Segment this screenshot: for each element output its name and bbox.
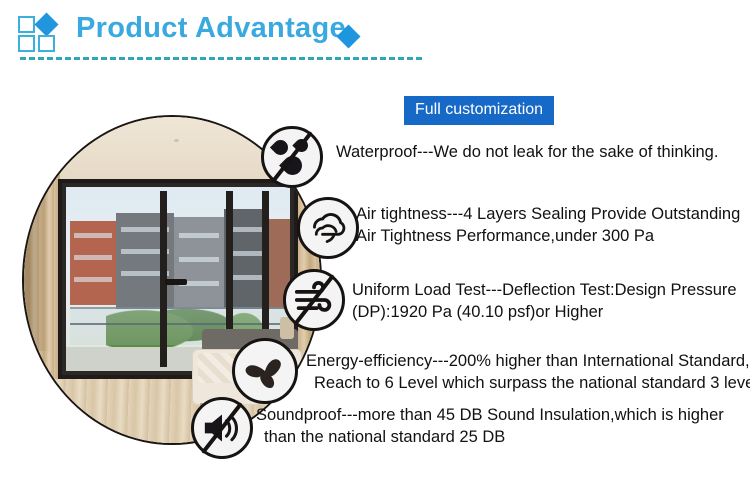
photo-building <box>70 221 116 305</box>
feature-text-waterproof: Waterproof---We do not leak for the sake… <box>336 141 740 163</box>
photo-building-windows <box>228 275 264 280</box>
feature-line: Air Tightness Performance,under 300 Pa <box>356 225 748 247</box>
water-drop-shape <box>270 137 291 158</box>
photo-building-windows <box>74 277 112 282</box>
feature-line: Waterproof---We do not leak for the sake… <box>336 141 740 163</box>
feature-line: Uniform Load Test---Deflection Test:Desi… <box>352 279 748 301</box>
page-header: Product Advantage <box>0 0 750 72</box>
photo-building-windows <box>74 255 112 260</box>
feature-text-soundproof: Soundproof---more than 45 DB Sound Insul… <box>256 404 748 448</box>
logo-square-bottom-right <box>38 35 55 52</box>
photo-building-windows <box>179 257 219 262</box>
photo-building-windows <box>228 251 264 256</box>
feature-line: (DP):1920 Pa (40.10 psf)or Higher <box>352 301 748 323</box>
logo-diamond-top-right <box>34 12 58 36</box>
feature-line: Air tightness---4 Layers Sealing Provide… <box>356 203 748 225</box>
fan-blades-glyph <box>235 341 295 401</box>
cloud-wind-glyph <box>300 200 356 256</box>
photo-door-handle <box>165 279 187 285</box>
feature-line: Soundproof---more than 45 DB Sound Insul… <box>256 404 748 426</box>
wind-flow-no-icon <box>283 269 345 331</box>
logo-square-top-left <box>18 16 35 33</box>
logo-square-bottom-left <box>18 35 35 52</box>
grid-squares-diamond-icon <box>18 16 66 52</box>
status-badge: Full customization <box>404 96 554 125</box>
page-title: Product Advantage <box>76 12 346 45</box>
photo-shadow <box>24 151 50 351</box>
photo-building-windows <box>228 227 264 232</box>
photo-building-windows <box>179 233 219 238</box>
photo-railing <box>70 323 286 325</box>
photo-building <box>174 217 224 309</box>
header-divider <box>20 57 422 60</box>
cloud-wind-icon <box>297 197 359 259</box>
photo-building-windows <box>74 233 112 238</box>
fan-blades-icon <box>232 338 298 404</box>
water-drops-no-icon <box>261 126 323 188</box>
speaker-mute-icon <box>191 397 253 459</box>
feature-text-loadtest: Uniform Load Test---Deflection Test:Desi… <box>352 279 748 323</box>
feature-line: Reach to 6 Level which surpass the natio… <box>306 372 750 394</box>
photo-ceiling-light <box>174 139 179 142</box>
feature-line: Energy-efficiency---200% higher than Int… <box>306 350 750 372</box>
feature-line: than the national standard 25 DB <box>256 426 748 448</box>
feature-text-airtight: Air tightness---4 Layers Sealing Provide… <box>356 203 748 247</box>
feature-text-energy: Energy-efficiency---200% higher than Int… <box>306 350 750 394</box>
